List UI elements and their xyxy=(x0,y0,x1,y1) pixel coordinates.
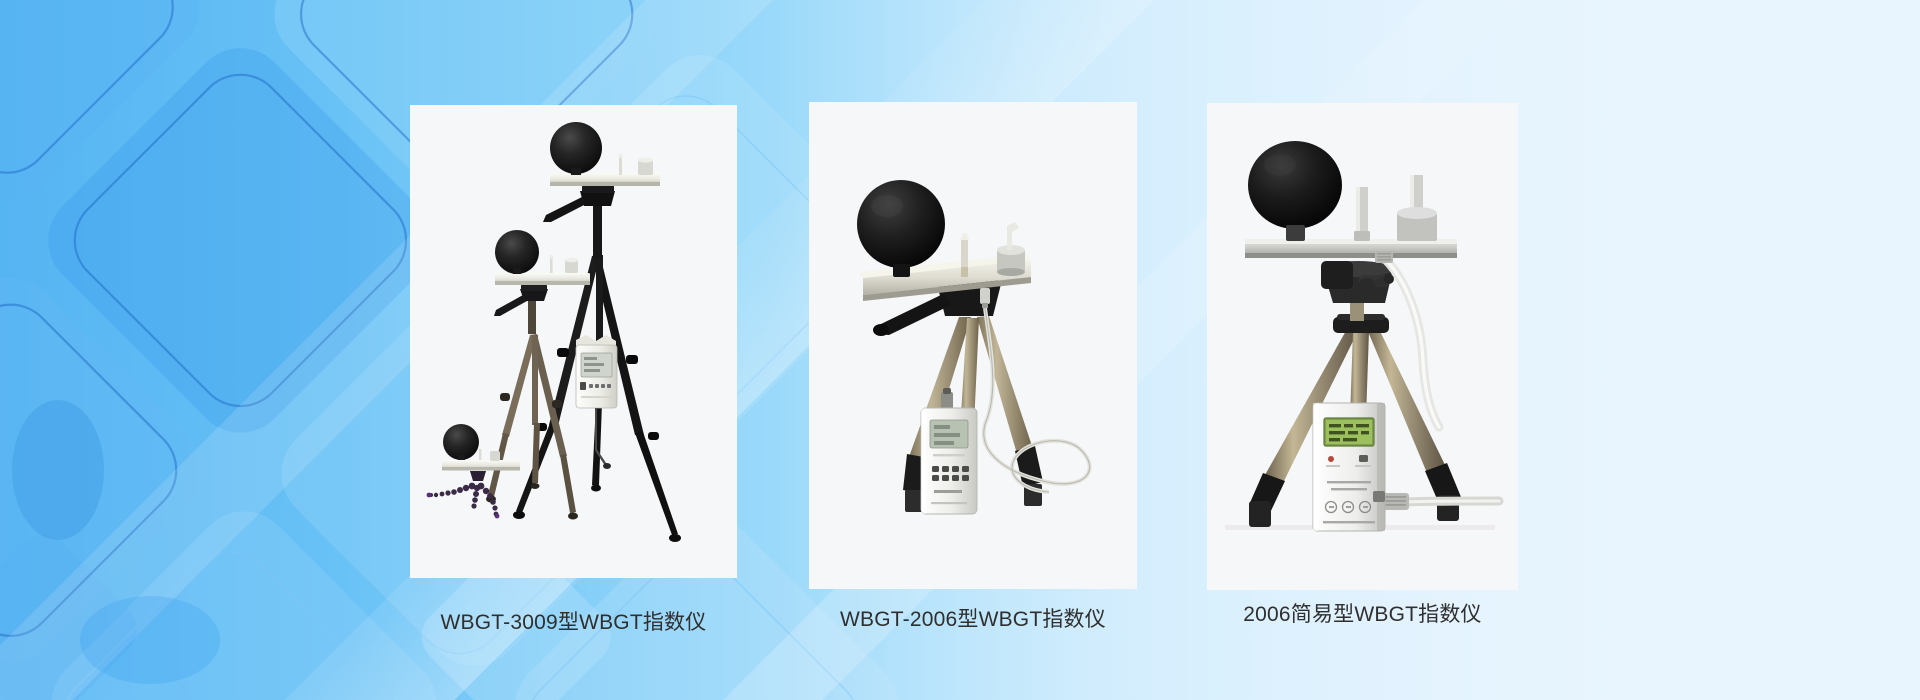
product-banner: WBGT-3009型WBGT指数仪 xyxy=(0,0,1920,700)
pan-head xyxy=(1321,261,1394,321)
tripod-tall xyxy=(513,122,681,542)
wbgt-2006-illustration xyxy=(809,102,1137,589)
product-caption-wbgt-3009: WBGT-3009型WBGT指数仪 xyxy=(410,610,737,635)
tripod-middle xyxy=(486,230,590,520)
product-image-wbgt-2006-simple xyxy=(1207,103,1518,590)
product-caption-wbgt-2006: WBGT-2006型WBGT指数仪 xyxy=(809,607,1137,632)
wbgt-3009-illustration xyxy=(410,105,737,578)
product-image-wbgt-3009 xyxy=(410,105,737,578)
dry-bulb-sensor xyxy=(1354,187,1370,241)
black-globe-sensor xyxy=(1248,141,1342,241)
cylinder-sensor xyxy=(997,222,1025,276)
product-card-wbgt-2006[interactable] xyxy=(809,102,1137,589)
wbgt-2006-simple-illustration xyxy=(1207,103,1518,590)
wet-bulb-sensor xyxy=(960,233,969,277)
wet-bulb-sensor xyxy=(1397,175,1437,241)
product-card-wbgt-2006-simple[interactable] xyxy=(1207,103,1518,590)
display-unit xyxy=(576,335,617,469)
handheld-meter xyxy=(1313,403,1385,531)
product-card-wbgt-3009[interactable] xyxy=(410,105,737,578)
product-image-wbgt-2006 xyxy=(809,102,1137,589)
black-globe-sensor xyxy=(857,180,945,277)
product-caption-wbgt-2006-simple: 2006简易型WBGT指数仪 xyxy=(1190,602,1535,627)
sensor-plate xyxy=(1245,239,1457,258)
